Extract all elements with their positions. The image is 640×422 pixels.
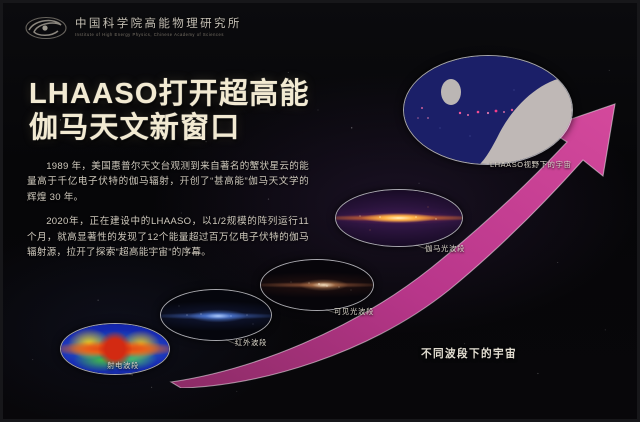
institute-name-cn: 中国科学院高能物理研究所	[75, 18, 242, 31]
sky-map-label-lhaaso: LHAASO视野下的宇宙	[490, 159, 572, 170]
sky-map-visible-light-stars	[261, 260, 373, 310]
sky-map-label-infrared: 红外波段	[235, 337, 267, 348]
sky-map-visible-light[interactable]	[260, 259, 374, 311]
sky-map-lhaaso[interactable]	[403, 55, 573, 165]
institute-name-block: 中国科学院高能物理研究所 Institute of High Energy Ph…	[75, 18, 242, 38]
figure-caption: 不同波段下的宇宙	[421, 346, 517, 361]
sky-map-lhaaso-overlay	[404, 56, 572, 164]
sky-map-label-visible-light: 可见光波段	[334, 306, 374, 317]
lhaaso-poster: 中国科学院高能物理研究所 Institute of High Energy Ph…	[0, 0, 640, 422]
sky-map-label-gamma: 伽马光波段	[425, 243, 465, 254]
ihep-swirl-logo-icon	[25, 15, 67, 41]
institute-name-en: Institute of High Energy Physics, Chines…	[75, 31, 242, 38]
institute-logo-bar: 中国科学院高能物理研究所 Institute of High Energy Ph…	[25, 13, 242, 43]
sky-map-infrared[interactable]	[160, 289, 272, 341]
sky-map-gamma[interactable]	[335, 189, 463, 247]
sky-map-label-radio: 射电波段	[107, 360, 139, 371]
sky-map-infrared-stars	[161, 290, 271, 340]
sky-map-gamma-sources	[336, 190, 462, 246]
